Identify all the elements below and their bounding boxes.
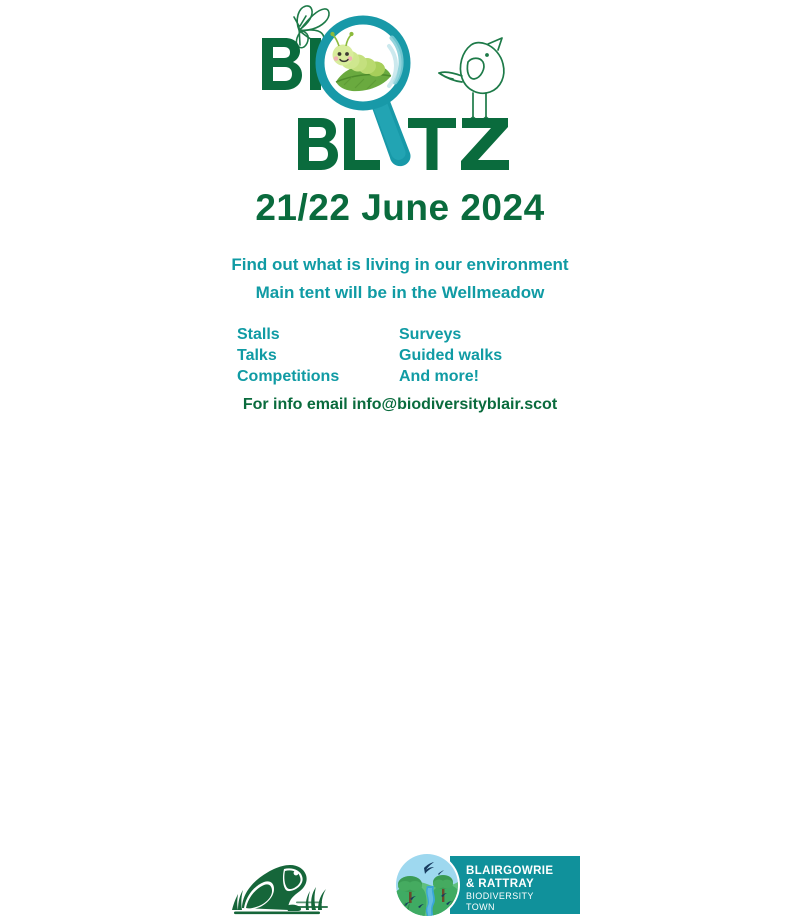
bioblitz-poster: 21/22 June 2024 Find out what is living … xyxy=(0,0,800,500)
logo-text-line-2: & RATTRAY xyxy=(466,878,534,890)
event-date: 21/22 June 2024 xyxy=(0,186,800,230)
tagline-primary: Find out what is living in our environme… xyxy=(0,254,800,276)
logo-text-line-1: BLAIRGOWRIE xyxy=(466,865,553,877)
contact-email-line: For info email info@biodiversityblair.sc… xyxy=(0,396,800,414)
blairgowrie-rattray-biodiversity-town-logo: BLAIRGOWRIE & RATTRAY BIODIVERSITY TOWN xyxy=(394,852,580,918)
activities-column-right: Surveys Guided walks And more! xyxy=(399,324,502,387)
logo-text-line-4: TOWN xyxy=(466,902,495,912)
activity-item: Talks xyxy=(237,345,339,366)
footer-logo-row: BLAIRGOWRIE & RATTRAY BIODIVERSITY TOWN xyxy=(0,424,800,500)
activity-item: And more! xyxy=(399,366,502,387)
frog-in-grass-icon xyxy=(232,865,328,914)
tagline-secondary: Main tent will be in the Wellmeadow xyxy=(0,282,800,304)
logo-text-line-3: BIODIVERSITY xyxy=(466,891,534,901)
activity-item: Surveys xyxy=(399,324,502,345)
bioblitz-logo-graphic xyxy=(240,0,560,180)
magnifying-glass-icon xyxy=(320,20,411,166)
activity-item: Competitions xyxy=(237,366,339,387)
activity-item: Stalls xyxy=(237,324,339,345)
activity-item: Guided walks xyxy=(399,345,502,366)
landscape-with-trees-river-and-birds-icon xyxy=(394,852,460,918)
bird-icon xyxy=(439,38,504,122)
activities-list: Stalls Talks Competitions Surveys Guided… xyxy=(237,324,567,390)
activities-column-left: Stalls Talks Competitions xyxy=(237,324,339,387)
logo-word-bio xyxy=(262,38,321,90)
frog-logo xyxy=(226,856,334,918)
bioblitz-logo-lockup xyxy=(0,0,800,180)
